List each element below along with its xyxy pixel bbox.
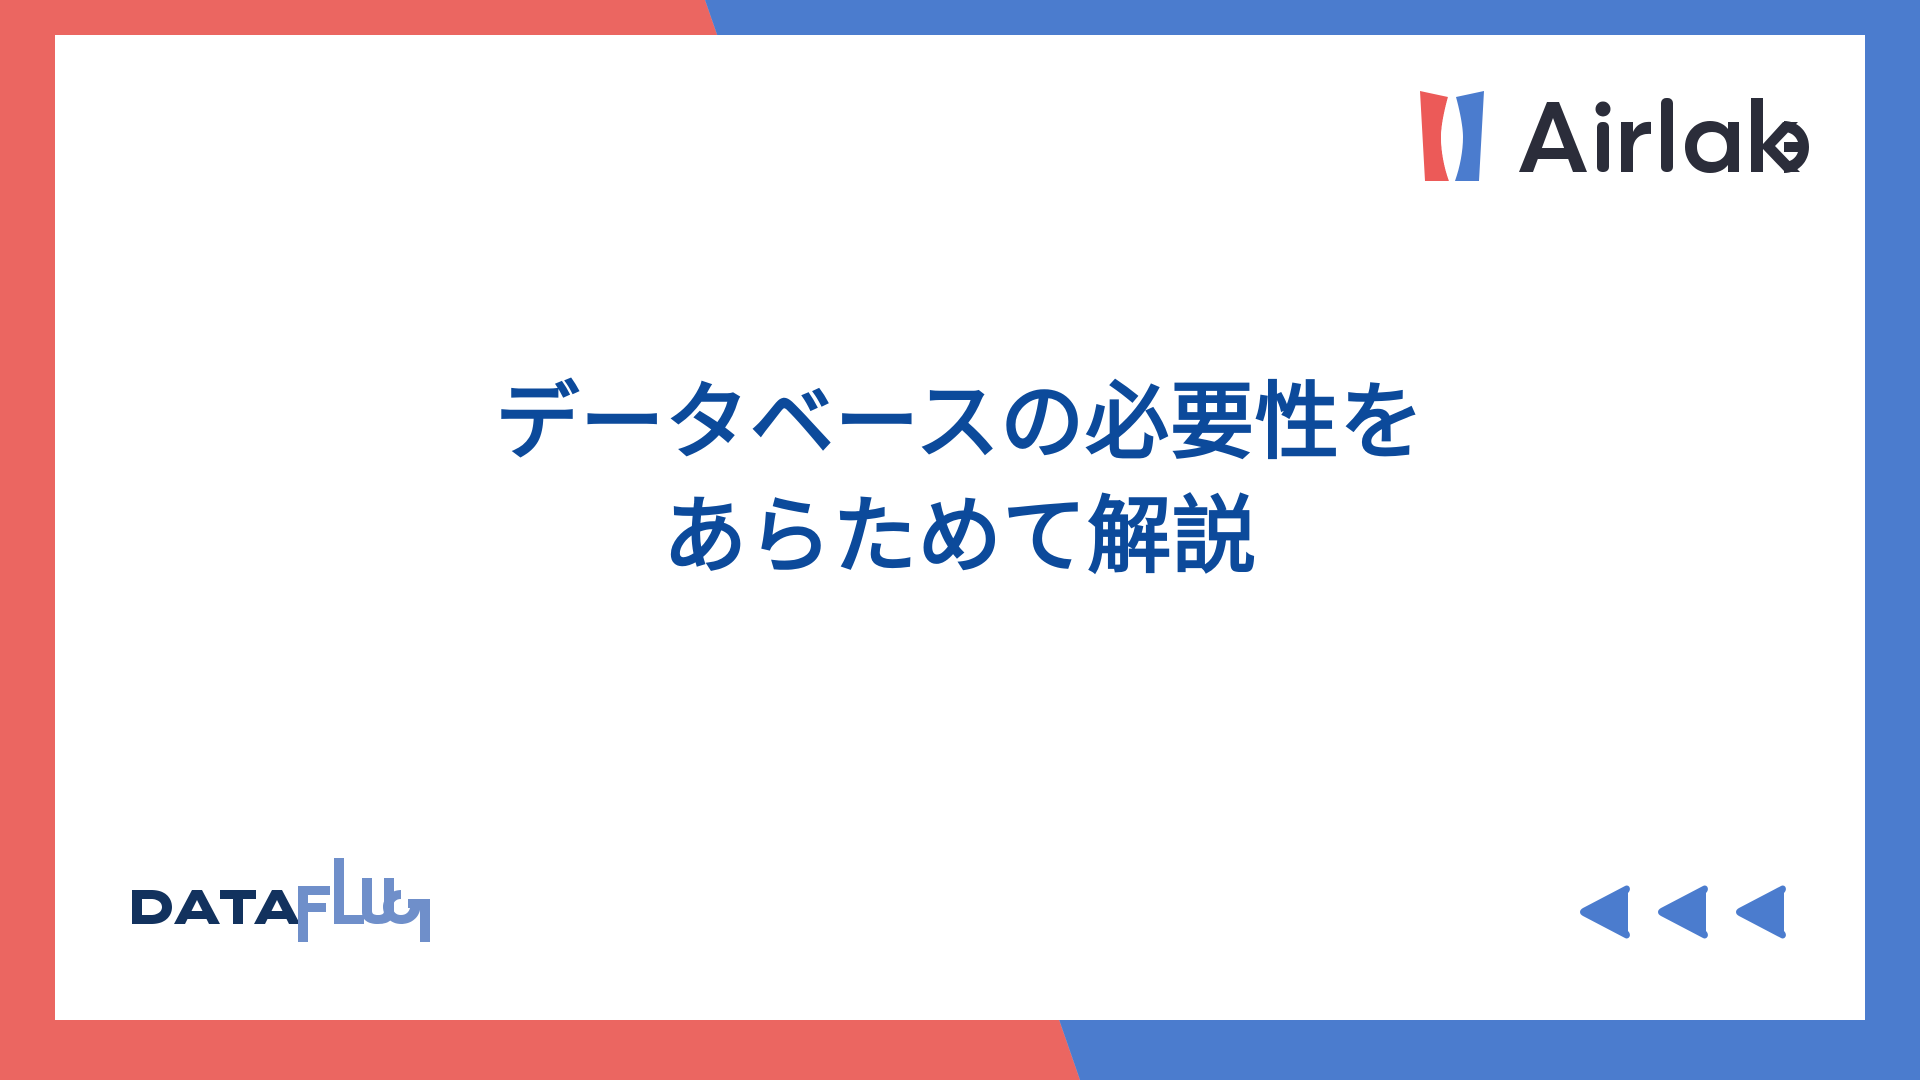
slide-title-line-2: あらためて解説 xyxy=(55,479,1865,593)
airlake-wordmark xyxy=(1517,96,1817,174)
left-triangle-icon xyxy=(1732,884,1790,940)
slide-content-card: データベースの必要性を あらためて解説 xyxy=(55,35,1865,1020)
airlake-mark-icon xyxy=(1413,85,1491,185)
airlake-logo xyxy=(1413,85,1817,185)
left-triangle-icon xyxy=(1576,884,1634,940)
left-triangle-icon xyxy=(1654,884,1712,940)
triangle-arrows xyxy=(1576,884,1790,940)
slide-title: データベースの必要性を あらためて解説 xyxy=(55,365,1865,593)
slide-title-line-1: データベースの必要性を xyxy=(55,365,1865,479)
slide-canvas: データベースの必要性を あらためて解説 xyxy=(0,0,1920,1080)
